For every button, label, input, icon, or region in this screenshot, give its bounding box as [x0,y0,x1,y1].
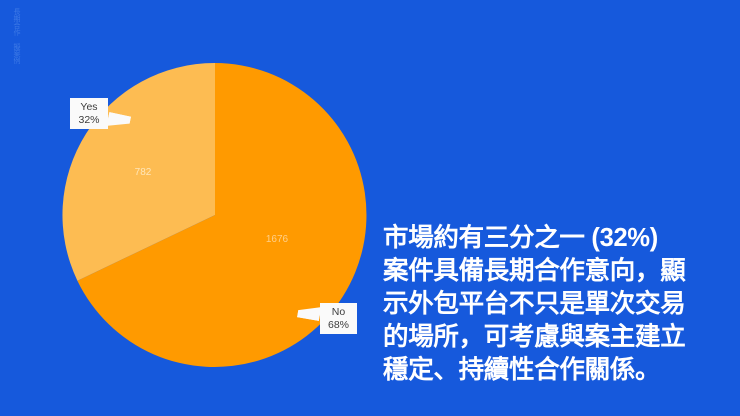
headline-line-5: 穩定、持續性合作關係。 [383,354,723,387]
pie-chart: 782 1676 Yes 32% No 68% [0,0,400,416]
headline-line-1: 市場約有三分之一 (32%) [383,222,723,255]
headline-line-4: 的場所，可考慮與案主建立 [383,321,723,354]
pie-value-label-no: 1676 [266,234,289,245]
headline-copy: 市場約有三分之一 (32%) 案件具備長期合作意向，顯 示外包平台不只是單次交易… [383,222,723,387]
pie-value-label-yes: 782 [135,167,152,178]
callout-yes-percent: 32% [76,114,102,127]
callout-yes[interactable]: Yes 32% [70,98,108,129]
callout-no[interactable]: No 68% [320,303,357,334]
callout-yes-label: Yes [76,101,102,114]
slide-canvas: 長期合作 擬案例 782 1676 Yes 32% No 68% 市場約有三分之… [0,0,740,416]
headline-line-3: 示外包平台不只是單次交易 [383,288,723,321]
pie-chart-svg: 782 1676 [0,0,400,416]
callout-no-label: No [326,306,351,319]
callout-no-percent: 68% [326,319,351,332]
headline-line-2: 案件具備長期合作意向，顯 [383,255,723,288]
